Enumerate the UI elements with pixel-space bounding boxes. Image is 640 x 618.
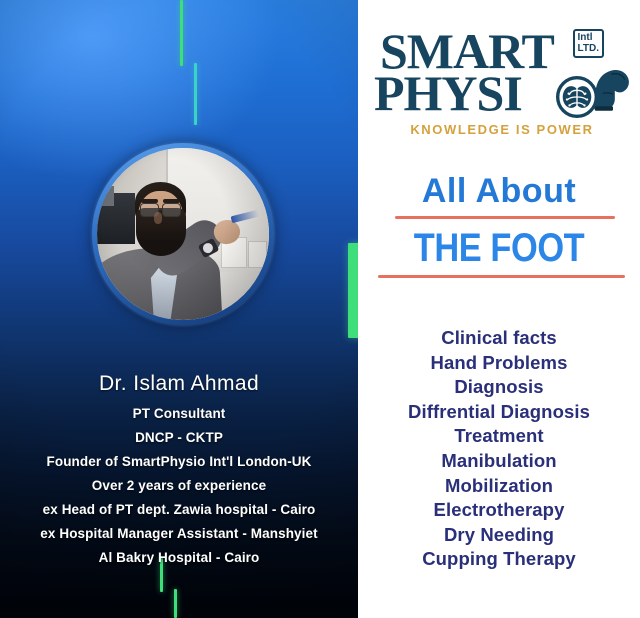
topic-item: Manibulation xyxy=(358,449,640,474)
right-panel: SMART PHYSI Intl LTD. xyxy=(358,0,640,618)
avatar xyxy=(92,143,274,325)
title-line-1: All About xyxy=(358,172,640,211)
topic-item: Treatment xyxy=(358,424,640,449)
title-divider-1 xyxy=(395,216,615,219)
credential-line: ex Head of PT dept. Zawia hospital - Cai… xyxy=(0,498,358,522)
brand-logo: SMART PHYSI Intl LTD. xyxy=(368,26,630,148)
credential-line: Founder of SmartPhysio Int'l London-UK xyxy=(0,450,358,474)
doctor-photo xyxy=(97,148,269,320)
credential-line: DNCP - CKTP xyxy=(0,426,358,450)
flexed-bicep-icon xyxy=(590,66,636,114)
topic-item: Diffrential Diagnosis xyxy=(358,400,640,425)
logo-badge-line2: LTD. xyxy=(578,43,599,54)
topic-item: Clinical facts xyxy=(358,326,640,351)
credential-line: Al Bakry Hospital - Cairo xyxy=(0,546,358,570)
doctor-name: Dr. Islam Ahmad xyxy=(0,372,358,396)
topic-item: Dry Needing xyxy=(358,523,640,548)
title-divider-2 xyxy=(378,275,625,278)
left-panel: Dr. Islam Ahmad PT Consultant DNCP - CKT… xyxy=(0,0,358,618)
topic-item: Electrotherapy xyxy=(358,498,640,523)
promotional-flyer: Dr. Islam Ahmad PT Consultant DNCP - CKT… xyxy=(0,0,640,618)
credential-line: Over 2 years of experience xyxy=(0,474,358,498)
doctor-info: Dr. Islam Ahmad PT Consultant DNCP - CKT… xyxy=(0,372,358,570)
logo-badge-line1: Intl xyxy=(578,32,599,43)
accent-line-cyan-top xyxy=(194,63,197,125)
topic-item: Cupping Therapy xyxy=(358,547,640,572)
logo-intl-badge: Intl LTD. xyxy=(573,29,604,58)
accent-line-green-bottom-lower xyxy=(174,589,177,618)
credential-line: ex Hospital Manager Assistant - Manshyie… xyxy=(0,522,358,546)
topic-item: Diagnosis xyxy=(358,375,640,400)
topic-item: Mobilization xyxy=(358,474,640,499)
topic-item: Hand Problems xyxy=(358,351,640,376)
accent-line-green-top xyxy=(180,0,183,66)
photo-shadow-overlay xyxy=(97,148,269,320)
topics-list: Clinical facts Hand Problems Diagnosis D… xyxy=(358,326,640,572)
logo-tagline: KNOWLEDGE IS POWER xyxy=(382,122,622,137)
credential-line: PT Consultant xyxy=(0,402,358,426)
logo-wordmark-physio: PHYSI xyxy=(374,68,522,118)
title-line-2: THE FOOT xyxy=(378,226,621,271)
